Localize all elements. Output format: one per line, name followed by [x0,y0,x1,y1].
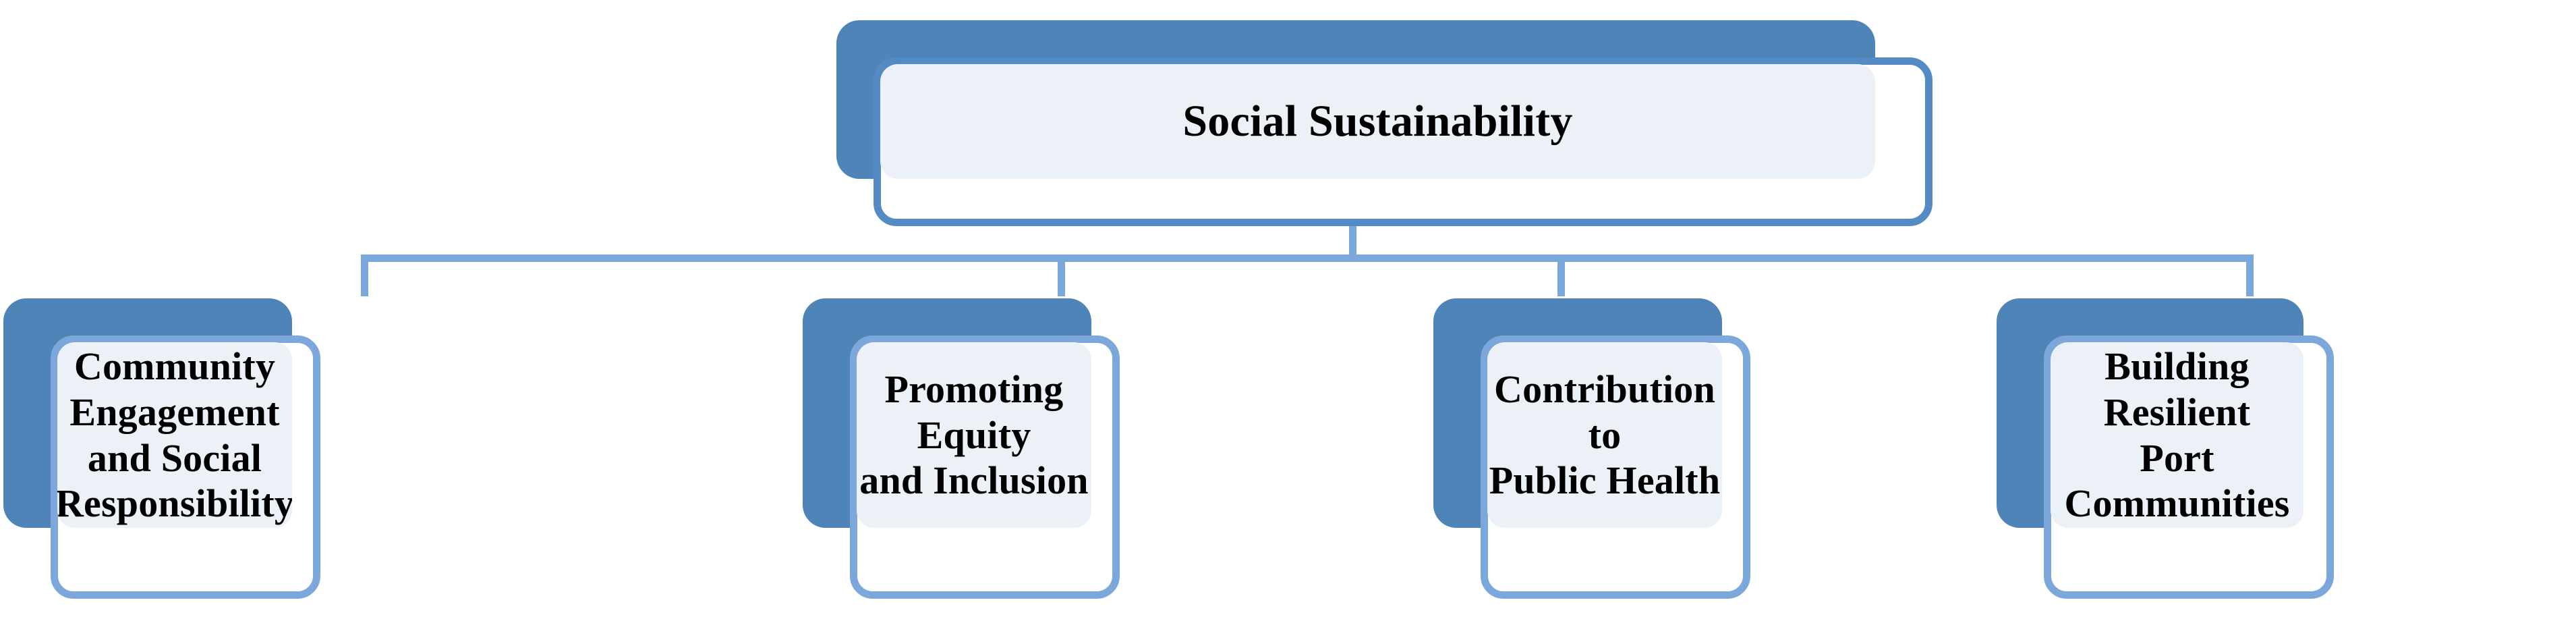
node-label: Community Engagement and Social Responsi… [57,344,292,527]
node-social-sustainability[interactable]: Social Sustainability [836,20,1933,230]
node-contribution-to-public-health[interactable]: Contribution to Public Health [1433,298,1750,602]
connector-drop-3 [1557,254,1565,296]
node-community-engagement-and-social-responsibility[interactable]: Community Engagement and Social Responsi… [3,298,320,602]
connector-drop-2 [1058,254,1065,296]
node-panel: Promoting Equity and Inclusion [857,342,1091,528]
node-label: Contribution to Public Health [1487,367,1722,504]
node-panel: Social Sustainability [880,64,1875,179]
node-building-resilient-port-communities[interactable]: Building Resilient Port Communities [1997,298,2334,602]
diagram-canvas: Social Sustainability Community Engageme… [0,0,2576,619]
node-label: Promoting Equity and Inclusion [857,367,1091,504]
connector-drop-4 [2246,254,2254,296]
node-promoting-equity-and-inclusion[interactable]: Promoting Equity and Inclusion [803,298,1120,602]
connector-horizontal-bus [361,254,2254,262]
connector-drop-1 [361,254,368,296]
node-panel: Community Engagement and Social Responsi… [57,342,292,528]
node-label: Social Sustainability [1182,95,1572,147]
node-label: Building Resilient Port Communities [2051,344,2303,527]
node-panel: Contribution to Public Health [1487,342,1722,528]
node-panel: Building Resilient Port Communities [2051,342,2303,528]
